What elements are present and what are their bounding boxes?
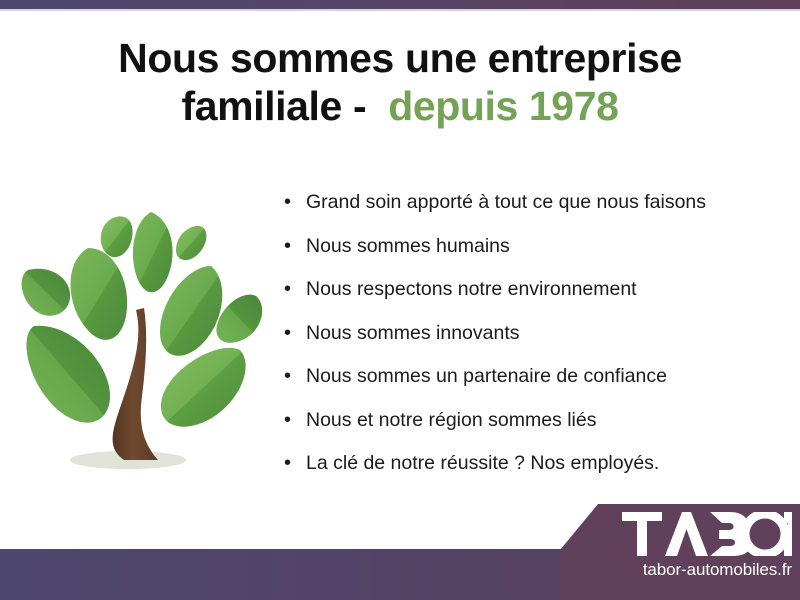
bullet-icon: • bbox=[284, 275, 306, 303]
tree-icon bbox=[18, 182, 270, 484]
list-item: • Nous sommes un partenaire de confiance bbox=[284, 362, 784, 406]
bullet-icon: • bbox=[284, 319, 306, 347]
list-item: • Nous respectons notre environnement bbox=[284, 275, 784, 319]
leaf-lower-left bbox=[26, 326, 110, 423]
bullet-icon: • bbox=[284, 449, 306, 477]
bullet-icon: • bbox=[284, 362, 306, 390]
leaf-top-small-right bbox=[176, 226, 206, 260]
title-line-2: familiale - depuis 1978 bbox=[0, 82, 800, 130]
list-item-label: Nous sommes humains bbox=[306, 232, 510, 260]
title-line-2-green: depuis 1978 bbox=[388, 83, 618, 129]
leaf-top-small-left bbox=[101, 216, 133, 257]
slide-canvas: Nous sommes une entreprise familiale - d… bbox=[0, 0, 800, 600]
list-item: • Nous sommes humains bbox=[284, 232, 784, 276]
tabor-wordmark-svg bbox=[622, 512, 792, 556]
leaf-lower-right bbox=[161, 348, 246, 427]
list-item: • Grand soin apporté à tout ce que nous … bbox=[284, 188, 784, 232]
leaf-far-left bbox=[22, 269, 71, 316]
tree-illustration-svg bbox=[18, 182, 270, 484]
leaf-top-center bbox=[133, 212, 173, 292]
list-item-label: Nous et notre région sommes liés bbox=[306, 406, 596, 434]
leaf-upper-right bbox=[160, 266, 222, 356]
page-title: Nous sommes une entreprise familiale - d… bbox=[0, 34, 800, 131]
leaf-far-right bbox=[216, 295, 262, 343]
leaf-upper-left bbox=[71, 248, 128, 340]
list-item: • Nous sommes innovants bbox=[284, 319, 784, 363]
bullet-icon: • bbox=[284, 406, 306, 434]
top-accent-hairline bbox=[0, 9, 800, 11]
list-item-label: Nous respectons notre environnement bbox=[306, 275, 637, 303]
title-line-2-black: familiale - bbox=[181, 83, 366, 129]
brand-website: tabor-automobiles.fr bbox=[560, 560, 792, 580]
value-bullet-list: • Grand soin apporté à tout ce que nous … bbox=[284, 188, 784, 493]
list-item: • Nous et notre région sommes liés bbox=[284, 406, 784, 450]
list-item-label: Nous sommes innovants bbox=[306, 319, 520, 347]
list-item-label: Nous sommes un partenaire de confiance bbox=[306, 362, 667, 390]
bullet-icon: • bbox=[284, 232, 306, 260]
title-line-1: Nous sommes une entreprise bbox=[0, 34, 800, 82]
list-item-label: Grand soin apporté à tout ce que nous fa… bbox=[306, 188, 706, 216]
list-item-label: La clé de notre réussite ? Nos employés. bbox=[306, 449, 659, 477]
list-item: • La clé de notre réussite ? Nos employé… bbox=[284, 449, 784, 493]
brand-logo-wordmark bbox=[622, 512, 792, 556]
top-accent-band bbox=[0, 0, 800, 9]
bullet-icon: • bbox=[284, 188, 306, 216]
